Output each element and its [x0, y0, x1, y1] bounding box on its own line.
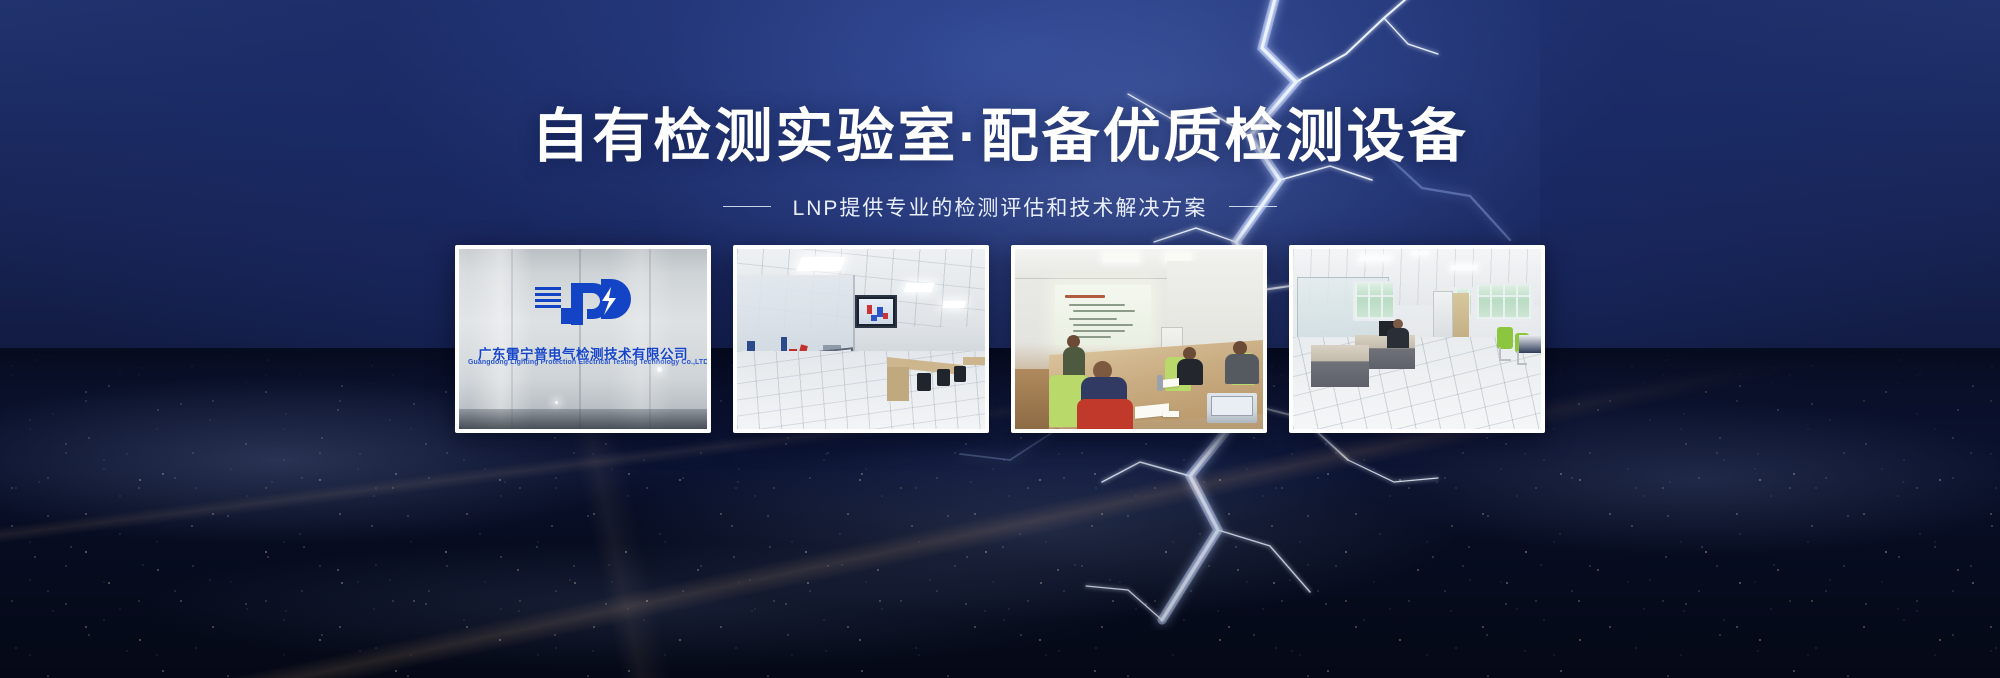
photo-hv-laboratory — [737, 249, 985, 429]
gallery-item-hv-laboratory[interactable] — [733, 245, 989, 433]
photo-company-signage: 广东雷宁普电气检测技术有限公司 Guangdong Lighting Prote… — [459, 249, 707, 429]
hero-text-block: 自有检测实验室·配备优质检测设备 LNP提供专业的检测评估和技术解决方案 — [0, 105, 2000, 222]
hero-headline: 自有检测实验室·配备优质检测设备 — [0, 105, 2000, 170]
lnp-logo-icon — [527, 277, 639, 333]
photo-office-area — [1293, 249, 1541, 429]
gallery-item-company-signage[interactable]: 广东雷宁普电气检测技术有限公司 Guangdong Lighting Prote… — [455, 245, 711, 433]
gallery-item-office[interactable] — [1289, 245, 1545, 433]
photo-training-meeting-room — [1015, 249, 1263, 429]
hero-subtitle-row: LNP提供专业的检测评估和技术解决方案 — [0, 192, 2000, 222]
hero-subtitle: LNP提供专业的检测评估和技术解决方案 — [793, 192, 1208, 222]
laptop-icon — [1207, 393, 1257, 423]
photo-gallery: 广东雷宁普电气检测技术有限公司 Guangdong Lighting Prote… — [0, 245, 2000, 433]
signage-company-name-en: Guangdong Lighting Protection Electrical… — [468, 359, 698, 366]
hero-banner: 自有检测实验室·配备优质检测设备 LNP提供专业的检测评估和技术解决方案 — [0, 0, 2000, 678]
rule-left-icon — [723, 206, 771, 207]
lab-display-icon — [855, 295, 897, 328]
gallery-item-meeting-room[interactable] — [1011, 245, 1267, 433]
rule-right-icon — [1229, 206, 1277, 207]
